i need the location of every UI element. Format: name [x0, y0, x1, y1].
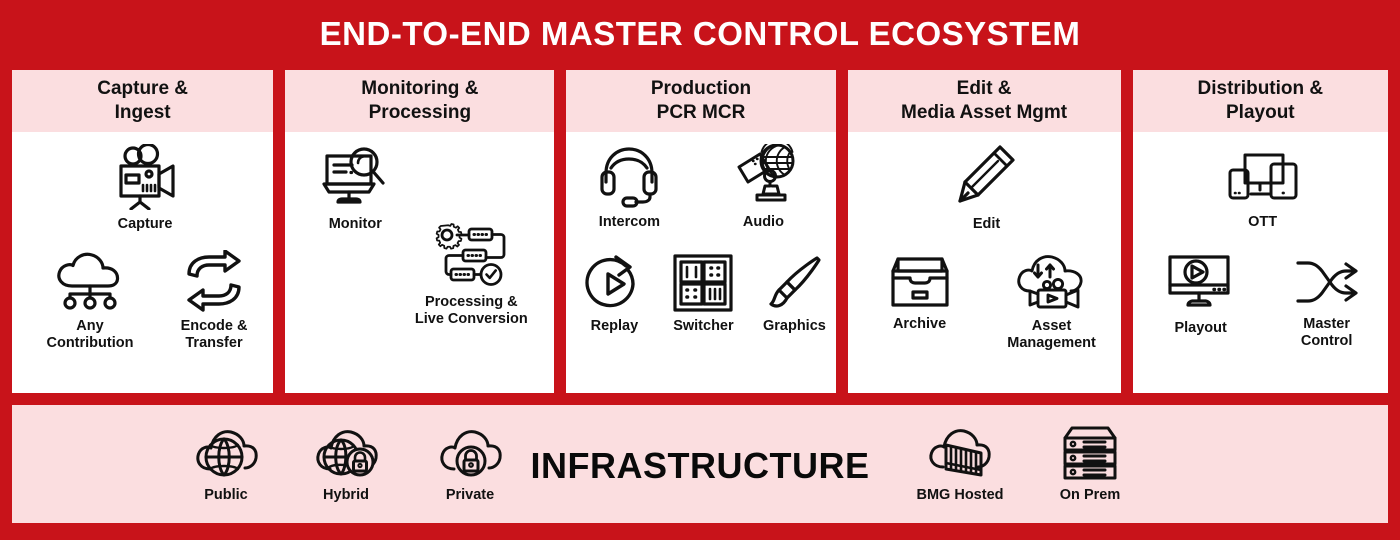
infrastructure-band: INFRASTRUCTURE Public — [12, 405, 1388, 523]
cloud-globe-lock-icon — [313, 425, 379, 481]
replay-play-icon — [584, 254, 644, 312]
item-archive[interactable]: Archive — [870, 254, 970, 333]
item-label: Edit — [973, 216, 1000, 233]
pencil-icon — [956, 144, 1018, 210]
item-label: On Prem — [1060, 487, 1120, 503]
paintbrush-icon — [765, 254, 823, 312]
item-private-cloud[interactable]: Private — [424, 425, 516, 503]
cloud-lock-icon — [437, 425, 503, 481]
item-ott[interactable]: OTT — [1221, 150, 1305, 231]
multi-device-icon — [1227, 150, 1299, 208]
item-label: BMG Hosted — [917, 487, 1004, 503]
item-audio[interactable]: Audio — [720, 144, 806, 231]
item-label: OTT — [1248, 214, 1277, 231]
cloud-globe-icon — [193, 425, 259, 481]
headset-icon — [598, 144, 660, 208]
item-edit[interactable]: Edit — [944, 144, 1030, 233]
item-label: Any Contribution — [47, 318, 134, 352]
column-header-edit-media-asset-mgmt: Edit & Media Asset Mgmt — [848, 70, 1121, 132]
item-label: Replay — [591, 318, 639, 335]
item-label: Encode & Transfer — [181, 318, 248, 352]
column-body-monitoring-processing: Monitor — [285, 132, 554, 393]
server-stack-icon — [1060, 425, 1120, 481]
cloud-camera-sync-icon — [1014, 250, 1090, 312]
item-label: Private — [446, 487, 494, 503]
item-label: Asset Management — [1007, 318, 1096, 352]
item-label: Monitor — [329, 216, 382, 233]
column-header-label: Production PCR MCR — [651, 77, 751, 125]
item-on-prem[interactable]: On Prem — [1040, 425, 1140, 503]
item-processing-live-conversion[interactable]: Processing & Live Conversion — [397, 220, 545, 328]
item-label: Graphics — [763, 318, 826, 335]
switcher-grid-icon — [672, 254, 734, 312]
workflow-gear-icon — [433, 220, 509, 288]
microphone-icon — [729, 144, 797, 208]
item-hybrid-cloud[interactable]: Hybrid — [300, 425, 392, 503]
column-header-capture-ingest: Capture & Ingest — [12, 70, 273, 132]
video-camera-icon — [109, 144, 181, 210]
column-header-label: Monitoring & Processing — [361, 77, 478, 125]
item-label: Audio — [743, 214, 784, 231]
column-header-monitoring-processing: Monitoring & Processing — [285, 70, 554, 132]
column-header-distribution-playout: Distribution & Playout — [1133, 70, 1388, 132]
item-capture[interactable]: Capture — [100, 144, 190, 233]
item-any-contribution[interactable]: Any Contribution — [34, 250, 146, 352]
diagram-root: END-TO-END MASTER CONTROL ECOSYSTEM Capt… — [0, 0, 1400, 540]
column-monitoring-processing: Monitoring & Processing — [285, 70, 554, 393]
column-production-pcr-mcr: Production PCR MCR — [566, 70, 835, 393]
item-label: Capture — [118, 216, 173, 233]
item-master-control[interactable]: Master Control — [1279, 254, 1375, 350]
item-replay[interactable]: Replay — [574, 254, 654, 335]
exchange-arrows-icon — [181, 250, 247, 312]
diagram-title-bar: END-TO-END MASTER CONTROL ECOSYSTEM — [0, 0, 1400, 68]
column-header-label: Capture & Ingest — [97, 77, 188, 125]
column-edit-media-asset-mgmt: Edit & Media Asset Mgmt Edit — [848, 70, 1121, 393]
item-label: Intercom — [599, 214, 660, 231]
item-label: Archive — [893, 316, 946, 333]
item-playout[interactable]: Playout — [1151, 254, 1251, 337]
item-label: Master Control — [1301, 316, 1353, 350]
column-body-edit-media-asset-mgmt: Edit Archive — [848, 132, 1121, 393]
cloud-network-icon — [52, 250, 128, 312]
shuffle-arrows-icon — [1294, 254, 1360, 310]
column-body-production-pcr-mcr: Intercom — [566, 132, 835, 393]
file-drawer-icon — [886, 254, 954, 310]
diagram-title: END-TO-END MASTER CONTROL ECOSYSTEM — [320, 15, 1081, 53]
column-header-label: Edit & Media Asset Mgmt — [901, 77, 1067, 125]
item-label: Switcher — [673, 318, 733, 335]
item-encode-transfer[interactable]: Encode & Transfer — [164, 250, 264, 352]
column-capture-ingest: Capture & Ingest — [12, 70, 273, 393]
item-label: Processing & Live Conversion — [415, 294, 528, 328]
column-body-capture-ingest: Capture Any Contribution — [12, 132, 273, 393]
column-header-production-pcr-mcr: Production PCR MCR — [566, 70, 835, 132]
item-label: Hybrid — [323, 487, 369, 503]
column-distribution-playout: Distribution & Playout — [1133, 70, 1388, 393]
column-header-label: Distribution & Playout — [1198, 77, 1324, 125]
monitor-play-icon — [1166, 254, 1236, 314]
item-intercom[interactable]: Intercom — [586, 144, 672, 231]
item-switcher[interactable]: Switcher — [658, 254, 748, 335]
item-bmg-hosted[interactable]: BMG Hosted — [900, 425, 1020, 503]
column-body-distribution-playout: OTT Playout — [1133, 132, 1388, 393]
columns-container: Capture & Ingest — [12, 70, 1388, 393]
monitor-magnifier-icon — [321, 144, 389, 210]
item-label: Public — [204, 487, 248, 503]
item-asset-management[interactable]: Asset Management — [988, 250, 1116, 352]
cloud-server-icon — [925, 425, 995, 481]
item-label: Playout — [1174, 320, 1226, 337]
item-graphics[interactable]: Graphics — [752, 254, 836, 335]
item-monitor[interactable]: Monitor — [307, 144, 403, 233]
item-public-cloud[interactable]: Public — [180, 425, 272, 503]
